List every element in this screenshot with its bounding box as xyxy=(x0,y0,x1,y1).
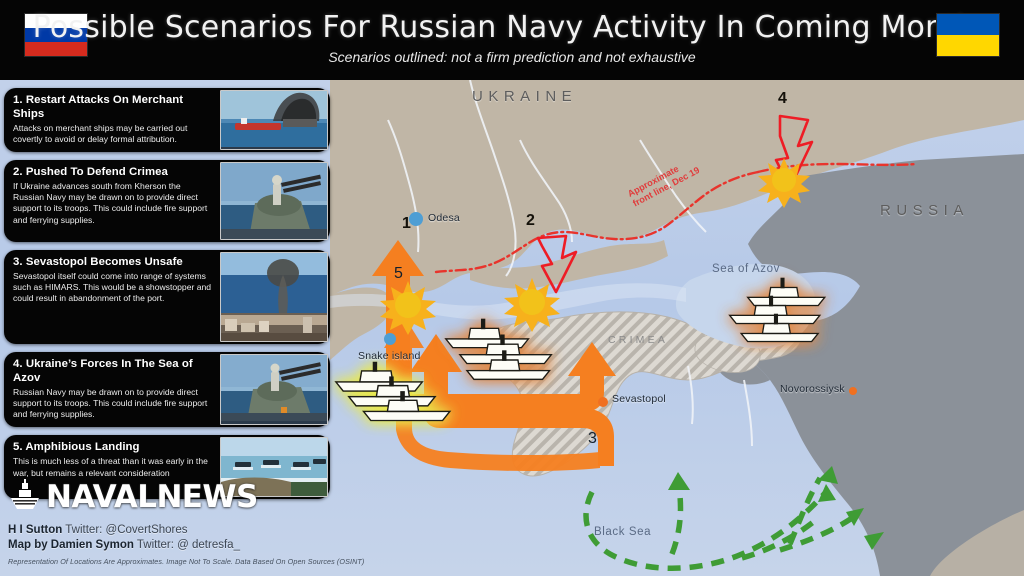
brand-wordmark: NAVALNEWS xyxy=(46,482,258,513)
scenario-panel-4-body: Russian Navy may be drawn on to provide … xyxy=(13,387,214,421)
credit-map-name: Map by Damien Symon xyxy=(8,539,134,551)
credit-map-handle: Twitter: @ detresfa_ xyxy=(137,539,240,551)
scenario-panel-5-body: This is much less of a threat than it wa… xyxy=(13,456,214,478)
scenario-panel-3-thumbnail[interactable] xyxy=(220,252,328,342)
brand-logo-row: NAVALNEWS xyxy=(8,478,364,517)
scenario-panel-5-title: 5. Amphibious Landing xyxy=(13,441,214,455)
scenario-panel-3-body: Sevastopol itself could come into range … xyxy=(13,271,214,305)
city-dot-odesa xyxy=(409,212,423,226)
scenario-panel-2-body: If Ukraine advances south from Kherson t… xyxy=(13,181,214,226)
credit-author-handle: Twitter: @CovertShores xyxy=(65,524,187,536)
ship-bow-icon xyxy=(8,478,42,517)
header-bar: Possible Scenarios For Russian Navy Acti… xyxy=(0,0,1024,80)
scenario-panel-3-title: 3. Sevastopol Becomes Unsafe xyxy=(13,256,214,270)
scenario-panel-1-body: Attacks on merchant ships may be carried… xyxy=(13,123,214,145)
scenario-panel-list: 1. Restart Attacks On Merchant Ships Att… xyxy=(0,88,336,507)
page-subtitle: Scenarios outlined: not a firm predictio… xyxy=(0,49,1024,65)
city-dot-novorossiysk xyxy=(849,387,857,395)
scenario-panel-1-text: 1. Restart Attacks On Merchant Ships Att… xyxy=(4,88,220,152)
scenario-panel-2-thumbnail[interactable] xyxy=(220,162,328,240)
scenario-panel-1-thumbnail[interactable] xyxy=(220,90,328,150)
scenario-panel-2-text: 2. Pushed To Defend Crimea If Ukraine ad… xyxy=(4,160,220,242)
brand-block: NAVALNEWS H I Sutton Twitter: @CovertSho… xyxy=(8,478,364,566)
scenario-panel-2[interactable]: 2. Pushed To Defend Crimea If Ukraine ad… xyxy=(4,160,330,242)
city-dot-snake-island xyxy=(384,333,396,345)
credit-author-name: H I Sutton xyxy=(8,524,62,536)
scenario-panel-4-title: 4. Ukraine’s Forces In The Sea of Azov xyxy=(13,358,214,386)
city-dot-sevastopol xyxy=(598,397,608,407)
scenario-panel-1[interactable]: 1. Restart Attacks On Merchant Ships Att… xyxy=(4,88,330,152)
scenario-panel-2-title: 2. Pushed To Defend Crimea xyxy=(13,166,214,180)
scenario-panel-4[interactable]: 4. Ukraine’s Forces In The Sea of Azov R… xyxy=(4,352,330,427)
disclaimer-text: Representation Of Locations Are Approxim… xyxy=(8,557,364,566)
credit-author: H I Sutton Twitter: @CovertShores xyxy=(8,523,364,538)
scenario-panel-3[interactable]: 3. Sevastopol Becomes Unsafe Sevastopol … xyxy=(4,250,330,344)
scenario-panel-1-title: 1. Restart Attacks On Merchant Ships xyxy=(13,94,214,122)
scenario-panel-4-thumbnail[interactable] xyxy=(220,354,328,425)
credit-map: Map by Damien Symon Twitter: @ detresfa_ xyxy=(8,538,364,553)
scenario-panel-3-text: 3. Sevastopol Becomes Unsafe Sevastopol … xyxy=(4,250,220,344)
ukraine-flag xyxy=(936,13,1000,57)
page-title: Possible Scenarios For Russian Navy Acti… xyxy=(0,10,1024,45)
scenario-panel-4-text: 4. Ukraine’s Forces In The Sea of Azov R… xyxy=(4,352,220,427)
infographic-root: UKRAINE RUSSIA CRIMEA Sea of Azov Black … xyxy=(0,0,1024,576)
